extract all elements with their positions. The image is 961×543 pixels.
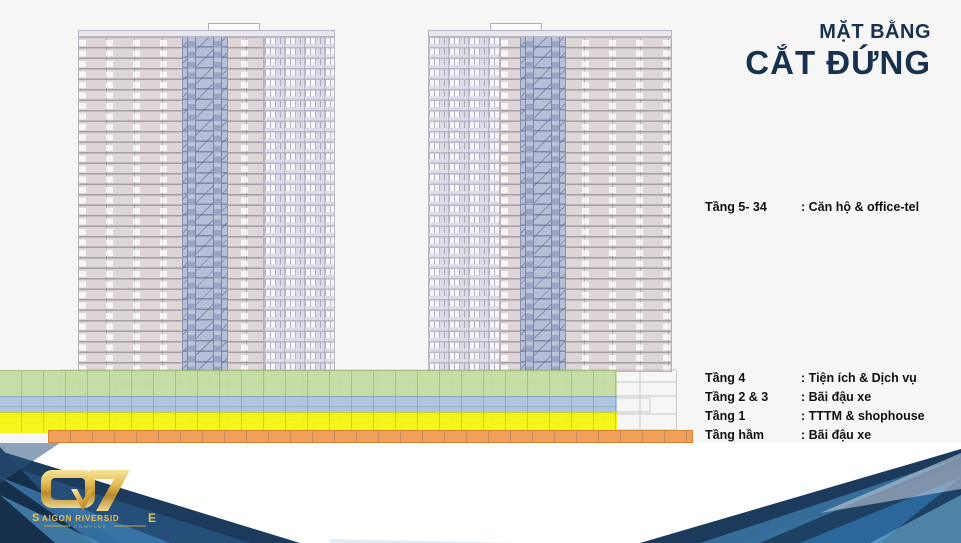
legend-row: Tầng 2 & 3: Bãi đậu xe	[705, 390, 925, 404]
legend-level: Tầng 1	[705, 409, 801, 423]
tower-right-roof-box	[490, 23, 542, 31]
tower-right	[428, 30, 672, 372]
legend-description: : Bãi đậu xe	[801, 428, 871, 442]
tower-right-core	[520, 37, 566, 372]
logo-name-lead: S	[32, 512, 39, 524]
building-section-drawing	[0, 0, 700, 455]
logo[interactable]: S AIGON RIVERSID E COMPLEX	[30, 467, 180, 529]
legend-row: Tầng 1: TTTM & shophouse	[705, 409, 925, 423]
title-line-2: CẮT ĐỨNG	[745, 45, 931, 81]
elevator-shaft	[213, 37, 222, 372]
podium-band-basement	[48, 430, 693, 443]
legend-level: Tầng 4	[705, 371, 801, 385]
band-grid-lines	[49, 431, 692, 442]
podium-band-floor-4	[0, 370, 617, 397]
slide-canvas: MẶT BẰNG CẮT ĐỨNG	[0, 0, 961, 543]
elevator-shaft	[187, 37, 196, 372]
legend-upper: Tầng 5- 34: Căn hộ & office-tel	[705, 200, 919, 214]
facade-mullions	[429, 38, 499, 371]
legend-description: : Căn hộ & office-tel	[801, 200, 919, 214]
legend-row: Tầng 4: Tiện ích & Dịch vụ	[705, 371, 925, 385]
elevator-shaft	[551, 37, 560, 372]
tower-right-facade	[428, 37, 500, 372]
tower-left-facade	[264, 37, 335, 372]
legend-description: : Bãi đậu xe	[801, 390, 871, 404]
title-line-1: MẶT BẰNG	[745, 22, 931, 43]
band-grid-lines	[0, 371, 617, 397]
legend-lower: Tầng 4: Tiện ích & Dịch vụ Tầng 2 & 3: B…	[705, 371, 925, 447]
legend-description: : Tiện ích & Dịch vụ	[801, 371, 917, 385]
tower-left-core	[182, 37, 228, 372]
tower-left-section	[78, 37, 264, 372]
logo-wordmark: S AIGON RIVERSID E COMPLEX	[30, 509, 180, 529]
logo-subtitle: COMPLEX	[74, 524, 107, 529]
legend-row: Tầng 5- 34: Căn hộ & office-tel	[705, 200, 919, 214]
tower-left-roof-box	[208, 23, 260, 31]
legend-row: Tầng hầm: Bãi đậu xe	[705, 428, 925, 442]
facade-mullions	[265, 38, 334, 371]
legend-level: Tầng hầm	[705, 428, 801, 442]
elevator-shaft	[525, 37, 534, 372]
section-door-openings	[79, 38, 263, 371]
logo-name-tail: E	[148, 511, 156, 525]
legend-level: Tầng 2 & 3	[705, 390, 801, 404]
logo-q7-monogram	[38, 467, 136, 511]
legend-level: Tầng 5- 34	[705, 200, 801, 214]
logo-name-mid: AIGON RIVERSID	[42, 514, 119, 523]
tower-left	[78, 30, 335, 372]
tower-left-parapet	[78, 30, 335, 37]
legend-description: : TTTM & shophouse	[801, 409, 925, 423]
page-title: MẶT BẰNG CẮT ĐỨNG	[745, 22, 931, 81]
tower-right-parapet	[428, 30, 672, 37]
